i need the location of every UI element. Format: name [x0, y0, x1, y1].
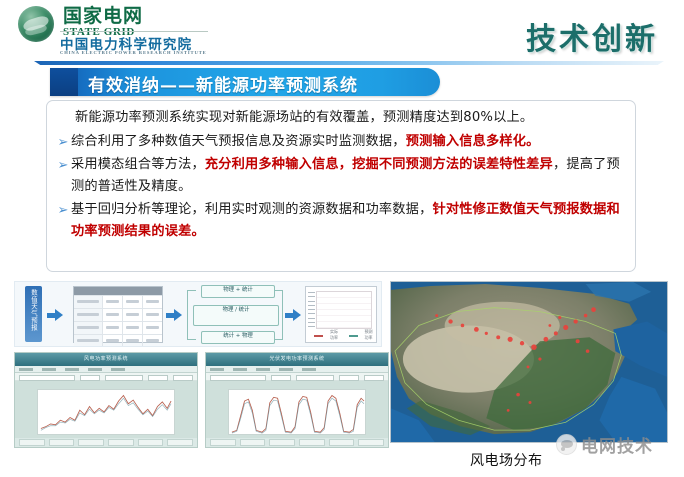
watermark: 电网技术 [556, 432, 653, 457]
plain-text: 综合利用了多种数值天气预报信息及资源实时监测数据， [71, 134, 406, 149]
watermark-text: 电网技术 [581, 432, 653, 457]
table-row [74, 295, 162, 308]
app-chart-canvas [37, 389, 175, 435]
bullet-text: 新能源功率预测系统实现对新能源场站的有效覆盖，预测精度达到80%以上。 [71, 107, 533, 129]
legend-label: 预测功率 [365, 329, 377, 341]
header-accent-rule [34, 61, 664, 65]
page-title: 有效消纳——新能源功率预测系统 [88, 71, 358, 96]
bullet-list: ·新能源功率预测系统实现对新能源场站的有效覆盖，预测精度达到80%以上。➢综合利… [55, 107, 625, 242]
flow-method-combination: 物理 + 统计 物理 / 统计 统计 + 物理 [187, 285, 283, 344]
bullet-item: ·新能源功率预测系统实现对新能源场站的有效覆盖，预测精度达到80%以上。 [55, 107, 625, 129]
flow-diagram-figure: 数值天气预报 物理 + 统计 物理 / 统计 统计 + 物理 [14, 281, 382, 347]
app-screenshot-solar: 光伏发电功率预测系统 [205, 352, 389, 448]
app-screenshot-wind: 风电功率预测系统 [14, 352, 198, 448]
wind-farm-map [390, 281, 668, 443]
combo-box: 物理 / 统计 [193, 305, 279, 326]
flow-input-label-text: 数值天气预报 [25, 286, 42, 331]
slide: 国家电网 STATE GRID 中国电力科学研究院 CHINA ELECTRIC… [0, 0, 684, 477]
combo-box: 物理 + 统计 [201, 285, 275, 298]
table-row [74, 334, 162, 347]
map-caption: 风电场分布 [470, 450, 543, 470]
flow-input-label: 数值天气预报 [25, 286, 42, 342]
table-row [74, 321, 162, 334]
app-titlebar: 光伏发电功率预测系统 [206, 353, 388, 366]
legend-label: 实际功率 [330, 329, 342, 341]
app-title: 风电功率预测系统 [84, 355, 128, 362]
bullet-text: 基于回归分析等理论，利用实时观测的资源数据和功率数据，针对性修正数值天气预报数据… [71, 199, 625, 242]
highlighted-text: 预测输入信息多样化。 [406, 134, 540, 149]
app-toolbar [15, 373, 197, 381]
plain-text: 新能源功率预测系统实现对新能源场站的有效覆盖，预测精度达到80%以上。 [75, 110, 533, 125]
plain-text: 采用模态组合等方法， [71, 157, 205, 172]
legend-entry [349, 333, 358, 338]
right-arrow-icon [47, 309, 63, 321]
right-arrow-icon [285, 309, 301, 321]
bullet-text: 采用模态组合等方法，充分利用多种输入信息，挖掘不同预测方法的误差特性差异，提高了… [71, 154, 625, 197]
right-arrow-icon [166, 309, 182, 321]
content-box: ·新能源功率预测系统实现对新能源场站的有效覆盖，预测精度达到80%以上。➢综合利… [46, 100, 636, 272]
app-toolbar [206, 373, 388, 381]
wechat-icon [556, 434, 577, 455]
section-title-bar: 有效消纳——新能源功率预测系统 [50, 68, 440, 96]
app-titlebar: 风电功率预测系统 [15, 353, 197, 366]
slide-header: 国家电网 STATE GRID 中国电力科学研究院 CHINA ELECTRIC… [0, 0, 684, 60]
table-header [74, 287, 162, 295]
plain-text: 基于回归分析等理论，利用实时观测的资源数据和功率数据， [71, 202, 432, 217]
bullet-item: ➢采用模态组合等方法，充分利用多种输入信息，挖掘不同预测方法的误差特性差异，提高… [55, 154, 625, 197]
app-title: 光伏发电功率预测系统 [269, 355, 324, 362]
app-statusbar [206, 438, 388, 447]
bullet-item: ➢基于回归分析等理论，利用实时观测的资源数据和功率数据，针对性修正数值天气预报数… [55, 199, 625, 242]
header-divider [60, 31, 208, 32]
legend-entry [314, 333, 323, 338]
title-bar-cap [50, 68, 78, 96]
page-kicker: 技术创新 [526, 14, 658, 58]
bullet-arrow-icon: ➢ [55, 154, 71, 175]
bullet-arrow-icon: ➢ [55, 131, 71, 152]
bullet-item: ➢综合利用了多种数值天气预报信息及资源实时监测数据，预测输入信息多样化。 [55, 131, 625, 153]
bullet-text: 综合利用了多种数值天气预报信息及资源实时监测数据，预测输入信息多样化。 [71, 131, 540, 153]
combo-box: 统计 + 物理 [201, 331, 275, 344]
app-statusbar [15, 438, 197, 447]
bullet-spacer: · [55, 107, 71, 128]
app-menubar [206, 366, 388, 373]
highlighted-text: 充分利用多种输入信息，挖掘不同预测方法的误差特性差异 [205, 157, 553, 172]
state-grid-globe-icon [18, 6, 54, 42]
app-menubar [15, 366, 197, 373]
flow-data-table [73, 286, 163, 343]
plot-legend: 实际功率 预测功率 [314, 329, 376, 341]
brand-name-cn: 国家电网 [63, 6, 143, 26]
plot-y-ticks [308, 292, 315, 331]
bullet-arrow-icon: ➢ [55, 199, 71, 220]
flow-result-plot: 实际功率 预测功率 [305, 286, 377, 343]
plot-axis-area [316, 291, 372, 329]
app-chart-canvas [228, 389, 366, 435]
table-row [74, 308, 162, 321]
institute-name-en: CHINA ELECTRIC POWER RESEARCH INSTITUTE [60, 50, 207, 55]
